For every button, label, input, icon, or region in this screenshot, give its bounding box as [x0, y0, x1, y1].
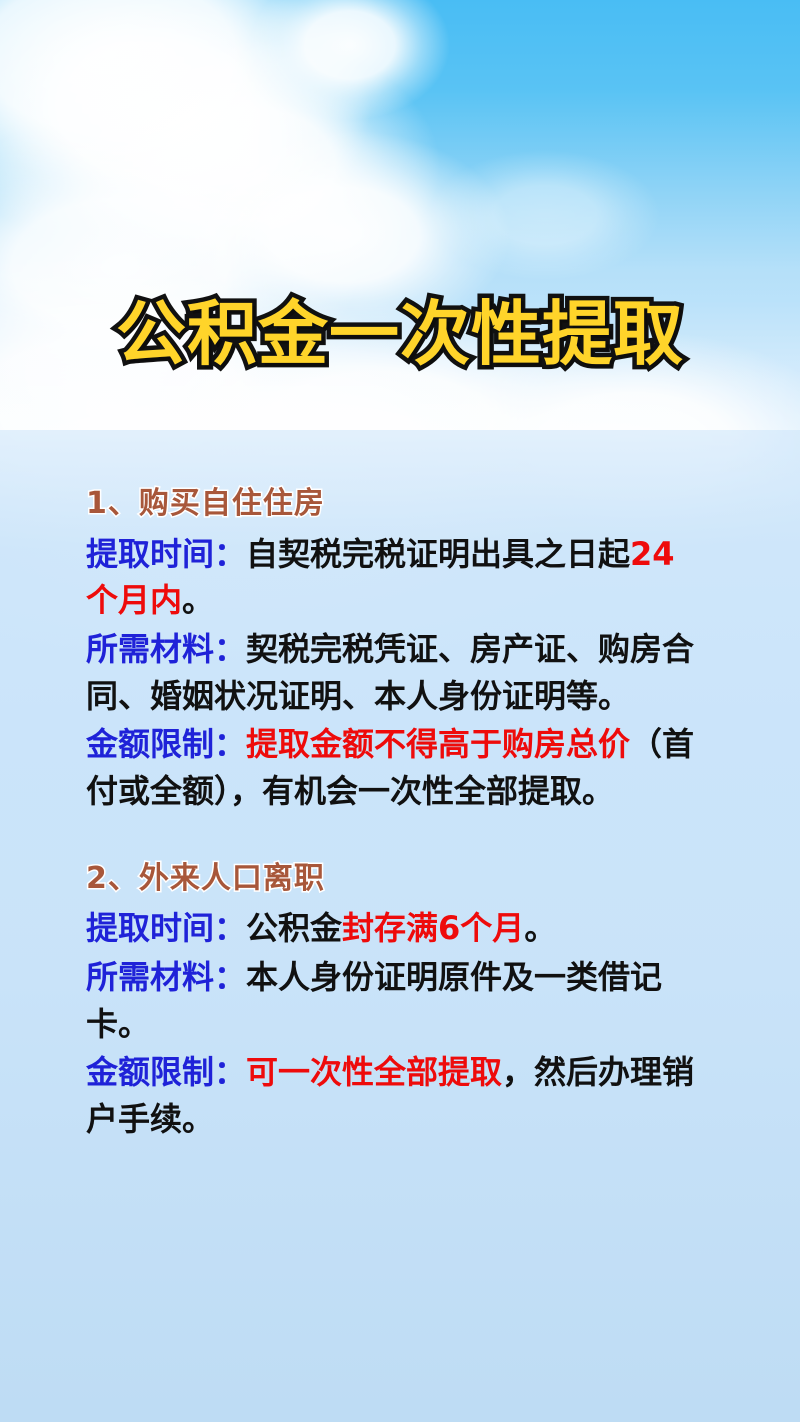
info-row: 金额限制：可一次性全部提取，然后办理销户手续。: [86, 1049, 700, 1142]
row-label: 提取时间：: [86, 909, 246, 947]
row-highlight-text: 可一次性全部提取: [246, 1053, 502, 1091]
page-title: 公积金一次性提取: [116, 296, 684, 373]
content-body: 1、购买自住住房提取时间：自契税完税证明出具之日起24个月内。所需材料：契税完税…: [86, 484, 700, 1145]
info-row: 金额限制：提取金额不得高于购房总价（首付或全额），有机会一次性全部提取。: [86, 721, 700, 814]
info-section: 2、外来人口离职提取时间：公积金封存满6个月。所需材料：本人身份证明原件及一类借…: [86, 859, 700, 1143]
info-row: 所需材料：契税完税凭证、房产证、购房合同、婚姻状况证明、本人身份证明等。: [86, 626, 700, 719]
poster-canvas: 公积金一次性提取 1、购买自住住房提取时间：自契税完税证明出具之日起24个月内。…: [0, 0, 800, 1422]
section-heading: 1、购买自住住房: [86, 484, 700, 525]
title-container: 公积金一次性提取: [0, 296, 800, 373]
info-row: 所需材料：本人身份证明原件及一类借记卡。: [86, 954, 700, 1047]
info-section: 1、购买自住住房提取时间：自契税完税证明出具之日起24个月内。所需材料：契税完税…: [86, 484, 700, 815]
row-highlight-text: 提取金额不得高于购房总价: [246, 725, 630, 763]
row-text: 自契税完税证明出具之日起: [246, 535, 630, 573]
row-highlight-text: 封存满6个月: [342, 909, 524, 947]
info-row: 提取时间：公积金封存满6个月。: [86, 905, 700, 952]
row-label: 所需材料：: [86, 630, 246, 668]
row-text: 公积金: [246, 909, 342, 947]
row-label: 金额限制：: [86, 1053, 246, 1091]
row-label: 所需材料：: [86, 958, 246, 996]
row-label: 提取时间：: [86, 535, 246, 573]
row-text: 。: [182, 581, 214, 619]
row-label: 金额限制：: [86, 725, 246, 763]
row-text: 。: [524, 909, 556, 947]
section-heading: 2、外来人口离职: [86, 859, 700, 900]
info-row: 提取时间：自契税完税证明出具之日起24个月内。: [86, 531, 700, 624]
